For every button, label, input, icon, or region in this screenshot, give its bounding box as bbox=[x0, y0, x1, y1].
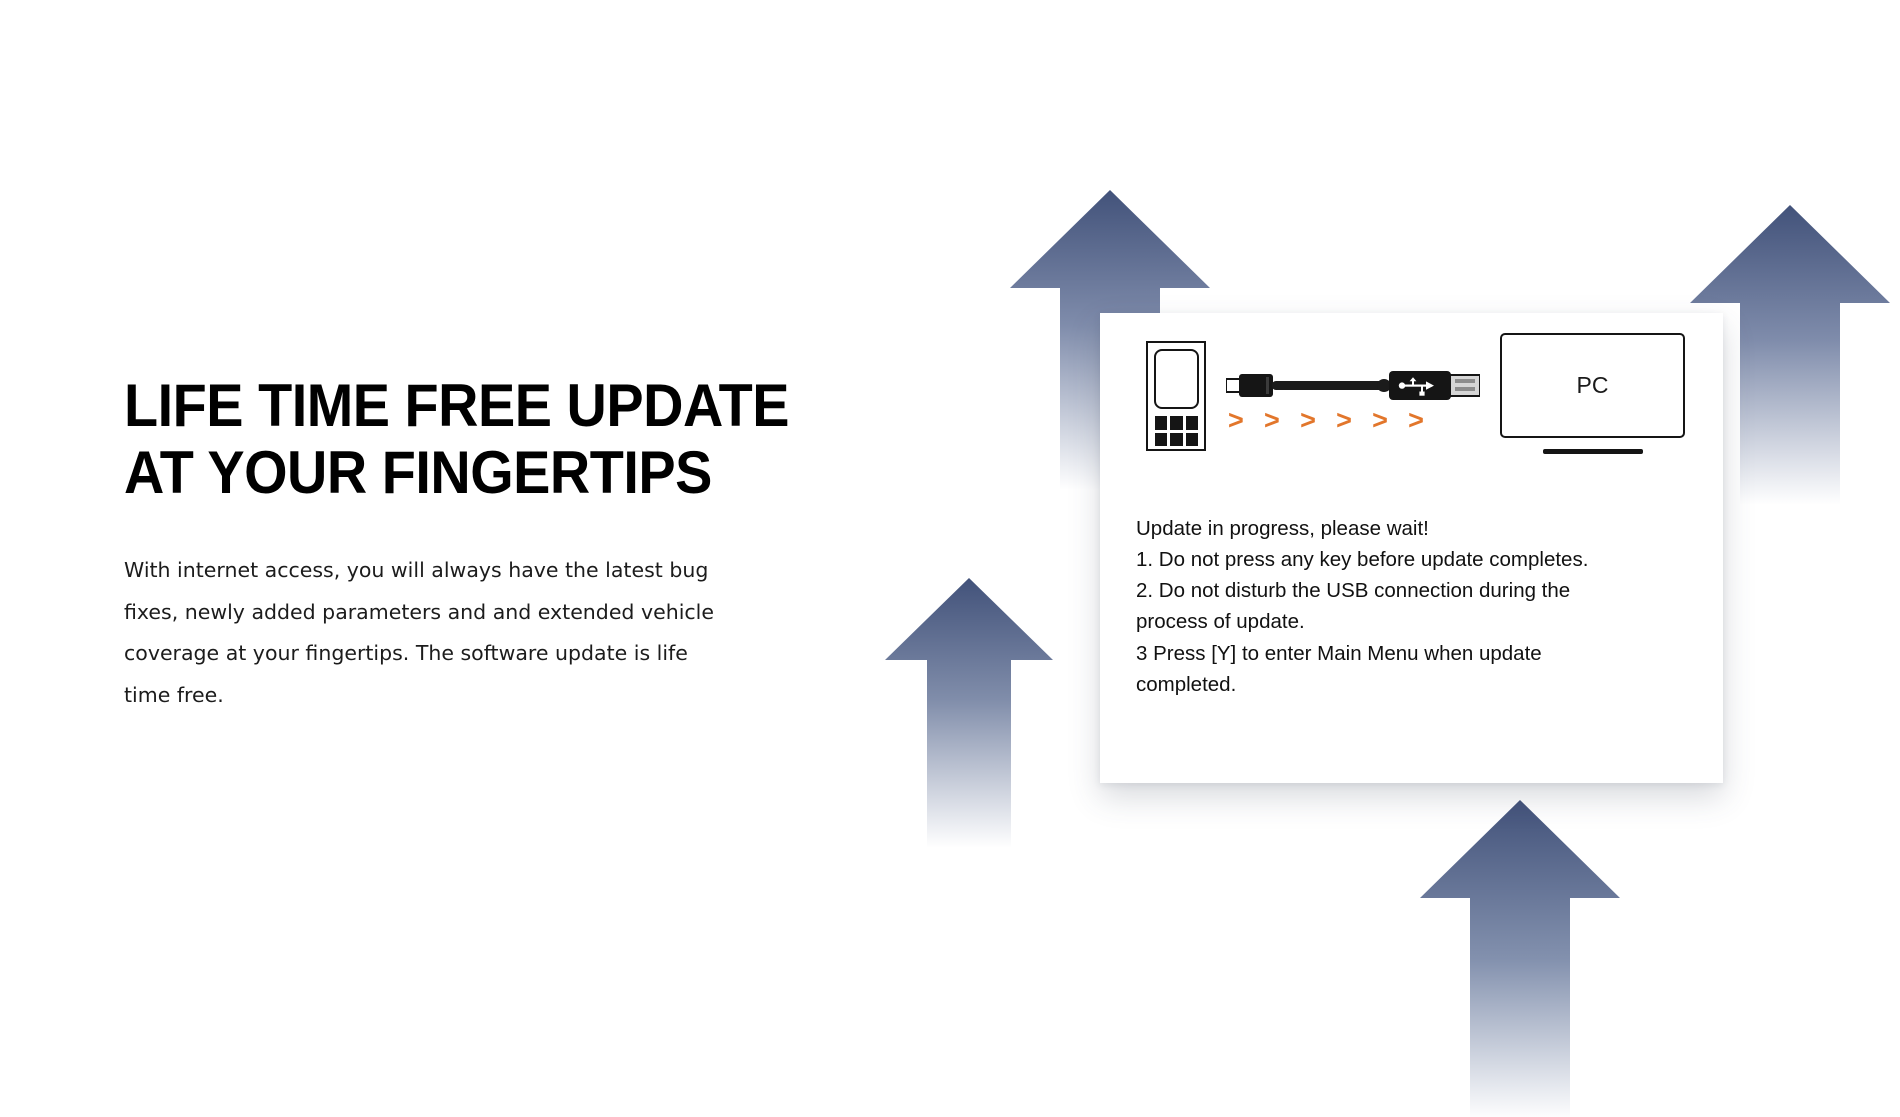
keypad-key bbox=[1155, 433, 1167, 447]
keypad-key bbox=[1170, 433, 1182, 447]
update-card: > > > > > > PC Update in progress, pleas… bbox=[1100, 313, 1723, 783]
message-line: 3 Press [Y] to enter Main Menu when upda… bbox=[1136, 638, 1702, 669]
chevron-right-icon: > bbox=[1264, 407, 1280, 434]
keypad-key bbox=[1186, 433, 1198, 447]
data-transfer-arrows: > > > > > > bbox=[1228, 407, 1424, 434]
chevron-right-icon: > bbox=[1372, 407, 1388, 434]
message-line: process of update. bbox=[1136, 606, 1702, 637]
usb-cable-icon bbox=[1226, 369, 1480, 401]
chevron-right-icon: > bbox=[1228, 407, 1244, 434]
device-keypad bbox=[1155, 416, 1198, 446]
slide-canvas: LIFE TIME FREE UPDATE AT YOUR FINGERTIPS… bbox=[0, 0, 1900, 1117]
pc-monitor-icon: PC bbox=[1500, 333, 1685, 438]
body-paragraph: With internet access, you will always ha… bbox=[124, 550, 724, 716]
device-screen bbox=[1154, 349, 1199, 409]
monitor-stand bbox=[1543, 449, 1643, 454]
chevron-right-icon: > bbox=[1336, 407, 1352, 434]
message-line: 1. Do not press any key before update co… bbox=[1136, 544, 1702, 575]
update-message: Update in progress, please wait! 1. Do n… bbox=[1136, 513, 1702, 700]
text-column: LIFE TIME FREE UPDATE AT YOUR FINGERTIPS… bbox=[124, 372, 944, 716]
handheld-scanner-icon bbox=[1146, 341, 1206, 451]
message-line: completed. bbox=[1136, 669, 1702, 700]
monitor-label: PC bbox=[1577, 372, 1609, 399]
page-title: LIFE TIME FREE UPDATE AT YOUR FINGERTIPS bbox=[124, 372, 887, 506]
keypad-key bbox=[1155, 416, 1167, 430]
keypad-key bbox=[1170, 416, 1182, 430]
message-line: 2. Do not disturb the USB connection dur… bbox=[1136, 575, 1702, 606]
arrow-up-bottom-icon bbox=[1420, 800, 1620, 1117]
keypad-key bbox=[1186, 416, 1198, 430]
chevron-right-icon: > bbox=[1408, 407, 1424, 434]
message-line: Update in progress, please wait! bbox=[1136, 513, 1702, 544]
connection-illustration: > > > > > > PC bbox=[1100, 313, 1723, 488]
chevron-right-icon: > bbox=[1300, 407, 1316, 434]
